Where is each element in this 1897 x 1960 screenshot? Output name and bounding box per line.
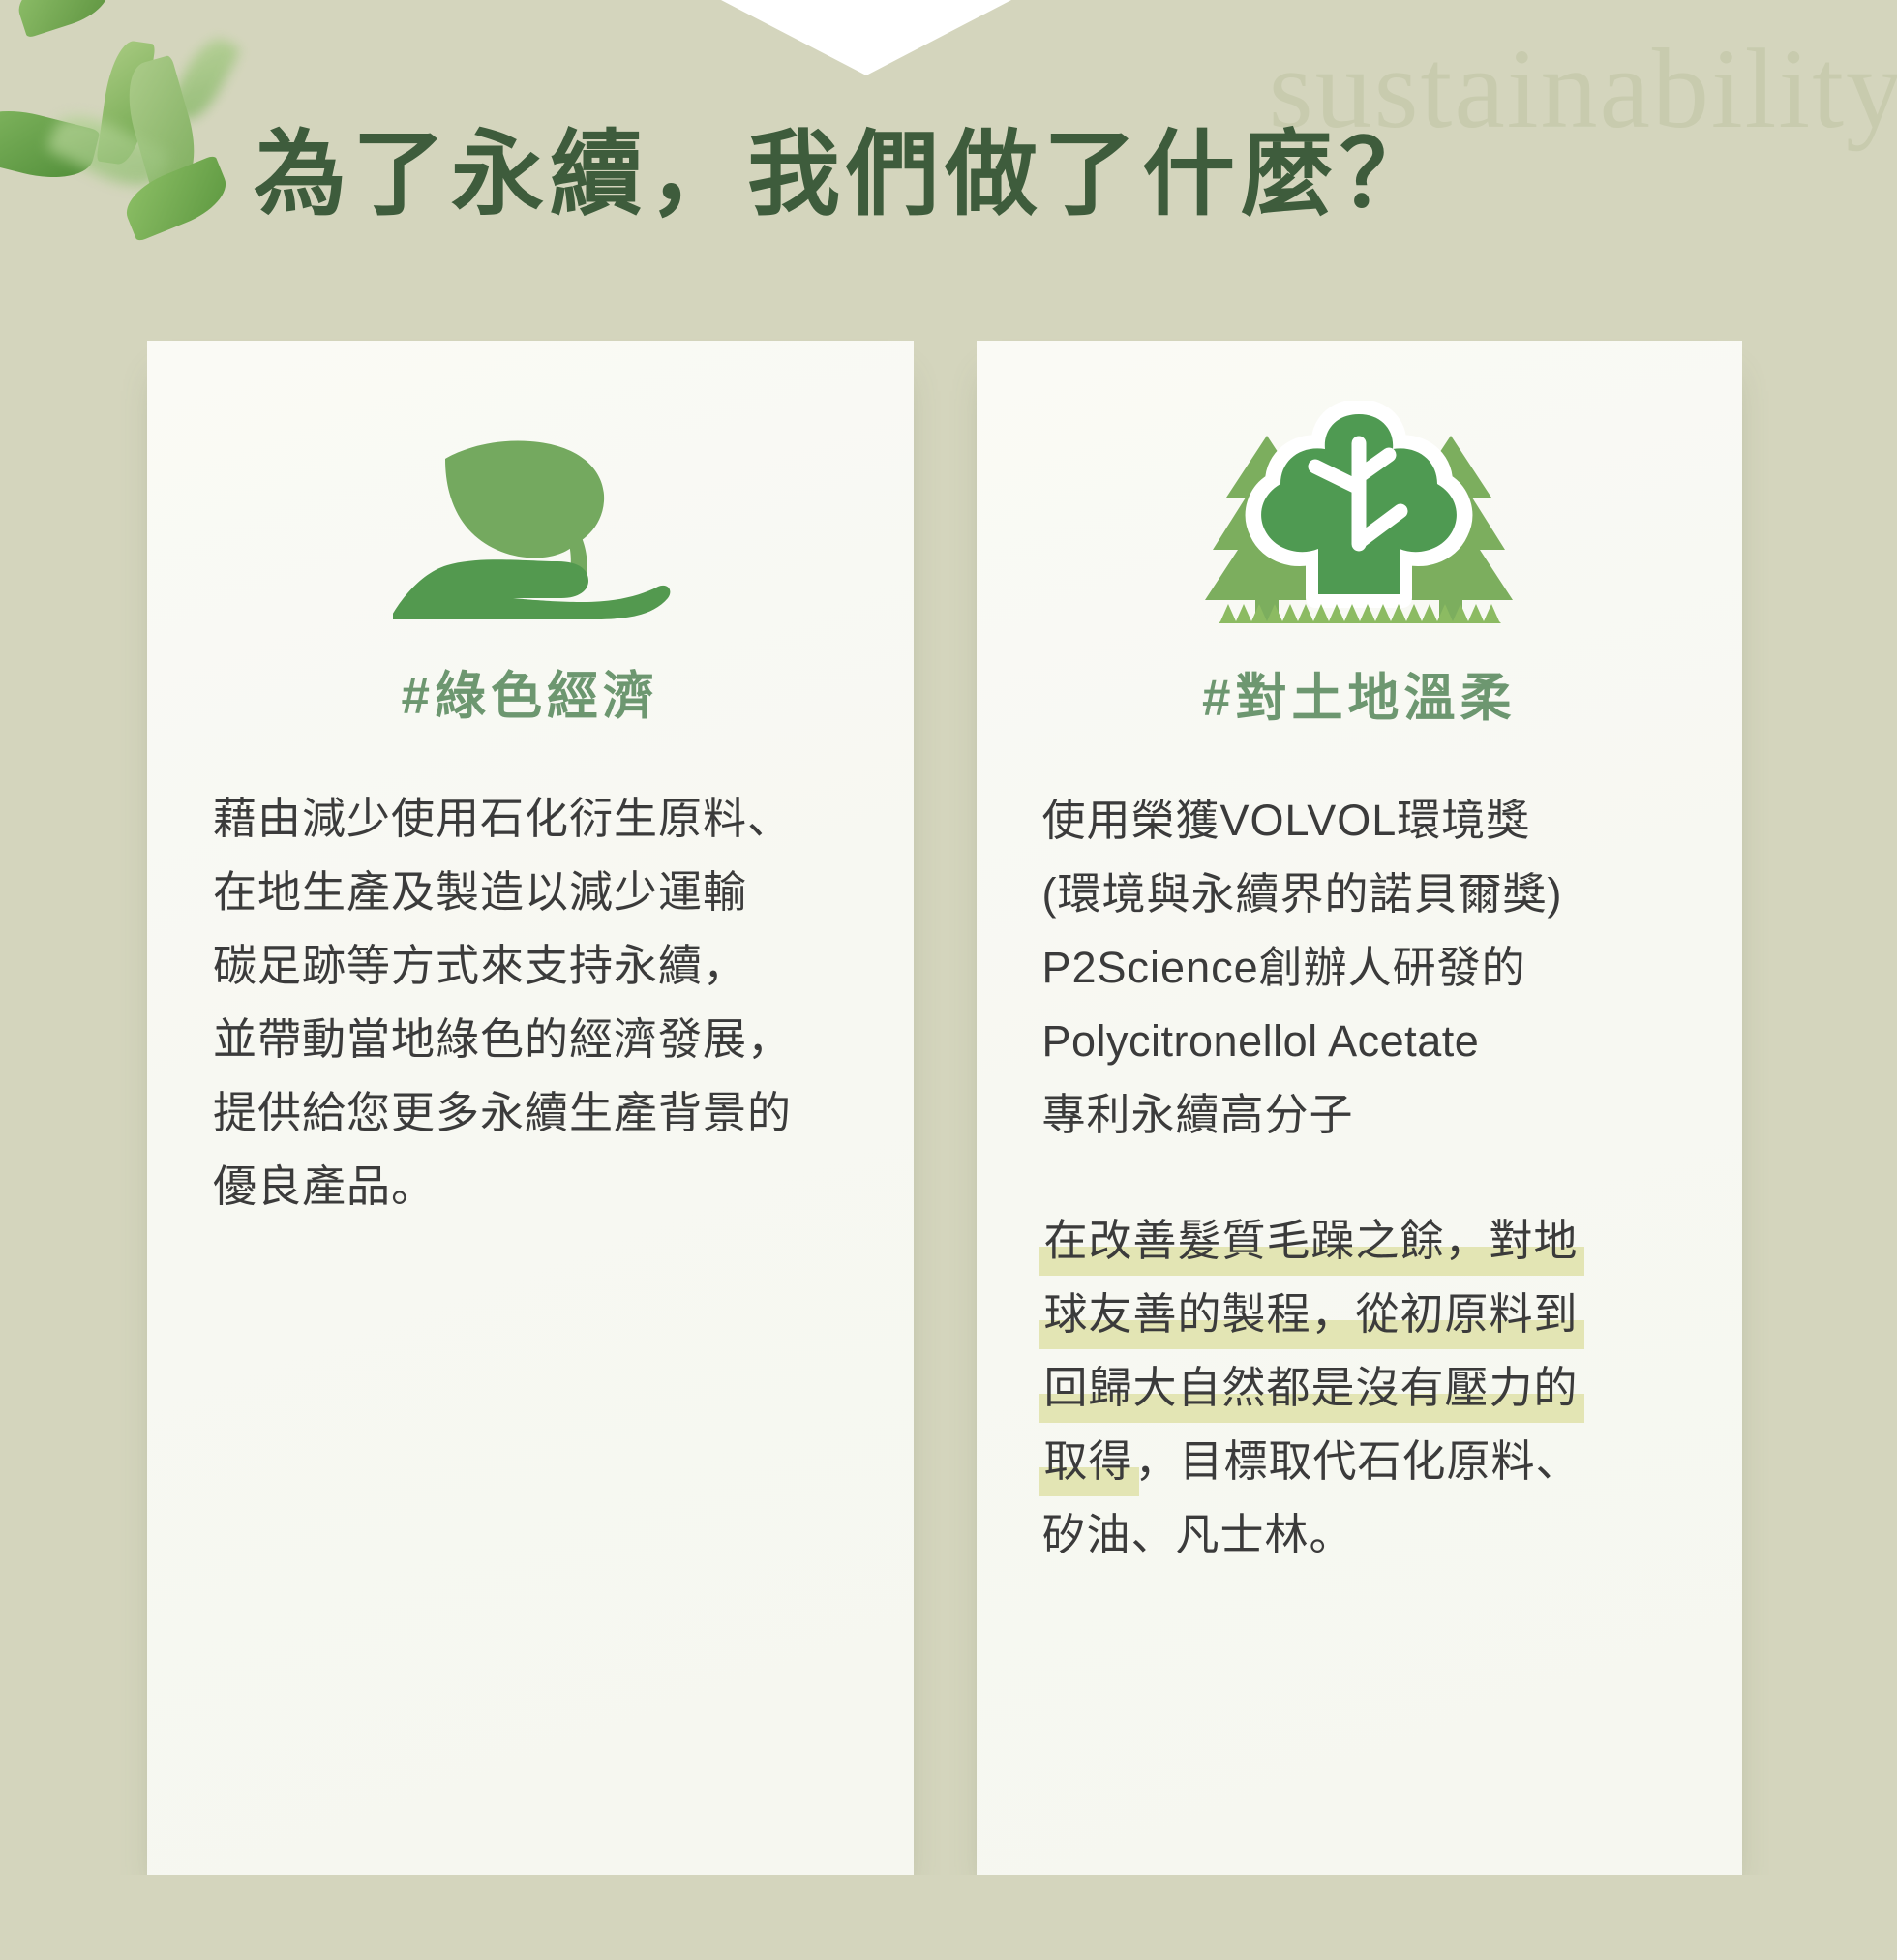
highlight-span: 在改善髮質毛躁之餘，對地	[1042, 1204, 1581, 1278]
cards-container: #綠色經濟 藉由減少使用石化衍生原料、 在地生產及製造以減少運輸 碳足跡等方式來…	[147, 341, 1742, 1875]
body-line: Polycitronellol Acetate	[1042, 1005, 1691, 1078]
body-line: 提供給您更多永續生產背景的	[213, 1076, 861, 1150]
highlight-span: 球友善的製程，從初原料到	[1042, 1278, 1581, 1351]
body-line-highlighted: 在改善髮質毛躁之餘，對地	[1042, 1204, 1691, 1278]
card-body-gentle-to-land: 使用榮獲VOLVOL環境獎 (環境與永續界的諾貝爾獎) P2Science創辦人…	[1029, 784, 1691, 1152]
page-title: 為了永續，我們做了什麼？	[254, 122, 1438, 228]
body-line: 在地生產及製造以減少運輸	[213, 856, 861, 929]
leaf-icon	[45, 104, 170, 198]
leaf-icon	[117, 55, 206, 194]
body-line: 使用榮獲VOLVOL環境獎	[1042, 784, 1691, 858]
body-line-highlighted: 球友善的製程，從初原料到	[1042, 1278, 1691, 1351]
card-heading-gentle-to-land: #對土地溫柔	[1029, 668, 1691, 730]
bottom-background-strip	[0, 1875, 1897, 1960]
forest-trees-icon	[1199, 401, 1519, 623]
body-line: (環境與永續界的諾貝爾獎)	[1042, 858, 1691, 931]
body-line: 並帶動當地綠色的經濟發展，	[213, 1003, 861, 1076]
body-line: 藉由減少使用石化衍生原料、	[213, 782, 861, 856]
top-chevron-notch	[721, 0, 1011, 75]
hand-shape	[393, 559, 670, 619]
body-line: 優良產品。	[213, 1150, 861, 1223]
leaf-icon	[0, 100, 101, 189]
leaf-icon	[166, 31, 242, 128]
highlight-span: 回歸大自然都是沒有壓力的	[1042, 1351, 1581, 1425]
hand-holding-leaf-icon	[385, 416, 676, 619]
body-line-highlighted: 回歸大自然都是沒有壓力的	[1042, 1351, 1691, 1425]
card-green-economy[interactable]: #綠色經濟 藉由減少使用石化衍生原料、 在地生產及製造以減少運輸 碳足跡等方式來…	[147, 341, 914, 1875]
card-gentle-to-land[interactable]: #對土地溫柔 使用榮獲VOLVOL環境獎 (環境與永續界的諾貝爾獎) P2Sci…	[977, 341, 1743, 1875]
card-heading-green-economy: #綠色經濟	[199, 666, 861, 728]
leaf-icon	[12, 0, 115, 39]
body-line: P2Science創辦人研發的	[1042, 931, 1691, 1005]
hand-holding-leaf-icon-wrap	[199, 341, 861, 619]
highlight-span: 取得	[1042, 1425, 1135, 1498]
body-line: 矽油、凡士林。	[1042, 1498, 1691, 1572]
card-body-green-economy: 藉由減少使用石化衍生原料、 在地生產及製造以減少運輸 碳足跡等方式來支持永續， …	[199, 782, 861, 1223]
forest-trees-icon-wrap	[1029, 341, 1691, 623]
leaf-icon	[118, 155, 234, 243]
leaf-icon	[96, 39, 155, 167]
body-line: 專利永續高分子	[1042, 1078, 1691, 1152]
body-line-highlighted: 取得，目標取代石化原料、	[1042, 1425, 1691, 1498]
plain-span: ，目標取代石化原料、	[1135, 1436, 1581, 1486]
body-line: 碳足跡等方式來支持永續，	[213, 929, 861, 1003]
card-body-highlighted: 在改善髮質毛躁之餘，對地 球友善的製程，從初原料到 回歸大自然都是沒有壓力的 取…	[1029, 1204, 1691, 1572]
